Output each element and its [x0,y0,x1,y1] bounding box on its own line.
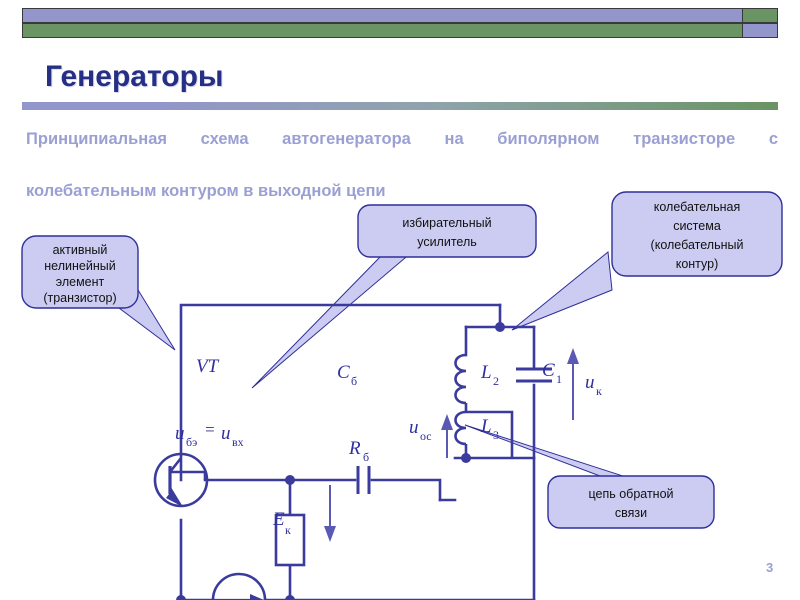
callout-selective-amplifier[interactable]: избирательный усилитель [358,205,536,257]
svg-text:u: u [175,423,185,444]
svg-text:2: 2 [493,374,499,388]
callout-tail-oscillatory-system [512,252,612,330]
callout-selective-amplifier-line-2: усилитель [417,235,477,249]
junction-dot [285,595,295,600]
voltage-arrow-uk [567,348,579,420]
label-base-emitter-voltage: u бэ = u вх [175,420,244,449]
svg-text:3: 3 [493,428,499,442]
callout-tail-selective-amplifier [252,252,412,388]
svg-text:вх: вх [232,435,244,449]
svg-text:1: 1 [556,372,562,386]
svg-text:б: б [363,450,369,464]
svg-text:ос: ос [420,429,432,443]
callout-feedback-circuit[interactable]: цепь обратной связи [548,476,714,528]
label-inductor-l3: L 3 [480,416,499,442]
callout-active-element-line-3: элемент [56,275,105,289]
label-capacitor-cb: C б [337,362,357,388]
svg-text:L: L [480,362,492,383]
callout-oscillatory-system-line-1: колебательная [654,200,741,214]
page-title: Генераторы [45,60,224,94]
inductor-l2-symbol [456,355,467,412]
title-underline-rule [22,102,778,110]
capacitor-cb-symbol [358,466,369,494]
header-bar-bottom [22,23,778,38]
callout-feedback-circuit-box[interactable] [548,476,714,528]
svg-text:E: E [272,509,285,530]
junction-dot [495,322,505,332]
svg-text:R: R [348,438,361,459]
svg-text:к: к [285,523,291,537]
header-decor-bars [22,8,778,40]
subtitle-line-1: Принципиальная схема автогенератора на б… [26,126,778,178]
svg-text:=: = [204,420,215,439]
junction-dot [285,475,295,485]
callout-selective-amplifier-line-1: избирательный [402,216,491,230]
callout-oscillatory-system-line-3: (колебательный [651,238,744,252]
label-resistor-rb: R б [348,438,369,464]
svg-text:L: L [480,416,492,437]
callout-active-element[interactable]: активный нелинейный элемент (транзистор) [22,236,138,308]
svg-text:u: u [409,417,419,438]
svg-text:к: к [596,384,602,398]
callout-oscillatory-system[interactable]: колебательная система (колебательный кон… [612,192,782,276]
header-bar-bottom-cap [742,24,777,37]
callout-active-element-line-1: активный [53,243,108,257]
header-bar-top-main [23,9,742,22]
svg-text:C: C [542,360,555,381]
junction-dot [461,453,471,463]
junction-dot [176,595,186,600]
svg-text:u: u [585,372,595,393]
svg-text:бэ: бэ [186,435,197,449]
label-inductor-l2: L 2 [480,362,499,388]
svg-text:u: u [221,423,231,444]
inductor-l3-symbol [456,412,467,458]
label-feedback-voltage-uoc: u ос [409,417,432,443]
voltage-source-ek-symbol [213,574,265,600]
label-transistor-vt: VT [196,356,220,377]
label-output-voltage-uk: u к [585,372,602,398]
header-bar-top [22,8,778,23]
header-bar-bottom-main [23,24,742,37]
svg-text:C: C [337,362,350,383]
svg-text:б: б [351,374,357,388]
callout-feedback-circuit-line-1: цепь обратной [588,487,673,501]
callout-selective-amplifier-box[interactable] [358,205,536,257]
callout-oscillatory-system-line-4: контур) [676,257,719,271]
header-bar-top-cap [742,9,777,22]
callout-oscillatory-system-line-2: система [673,219,721,233]
callout-active-element-line-4: (транзистор) [43,291,116,305]
callout-active-element-line-2: нелинейный [44,259,115,273]
callout-feedback-circuit-line-2: связи [615,506,647,520]
current-arrow-rb [324,485,336,542]
circuit-diagram: VT u бэ = u вх C б R б E к − + L 2 L 3 C… [0,180,800,600]
voltage-arrow-uoc [441,414,453,458]
